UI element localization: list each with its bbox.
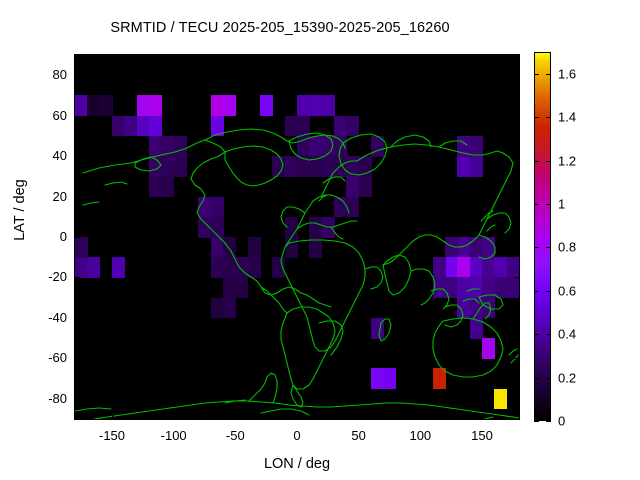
heatmap-cell (507, 277, 519, 298)
y-tick-mark (75, 75, 80, 76)
heatmap-cell (322, 136, 335, 157)
heatmap-cell (198, 197, 211, 218)
colorbar-tick-label: 0.2 (558, 370, 576, 385)
heatmap-cell (149, 116, 162, 137)
x-tick-label: 100 (390, 428, 450, 443)
colorbar-tick-label: 0.8 (558, 240, 576, 255)
heatmap-cell (457, 298, 470, 319)
colorbar-tick-mark (534, 334, 539, 335)
heatmap-cell (248, 237, 261, 258)
heatmap-cell (494, 389, 507, 410)
y-tick-mark (514, 75, 519, 76)
heatmap-cell (285, 116, 298, 137)
x-tick-mark (482, 55, 483, 60)
heatmap-cell (309, 156, 322, 177)
heatmap-cell (334, 136, 347, 157)
y-tick-mark (75, 197, 80, 198)
heatmap-cell (482, 237, 495, 258)
colorbar-tick-mark (546, 334, 551, 335)
heatmap-cell (482, 277, 495, 298)
heatmap-cell (494, 277, 507, 298)
heatmap-cell (457, 156, 470, 177)
heatmap-cell (334, 197, 347, 218)
x-tick-mark (359, 414, 360, 419)
heatmap-cell (198, 217, 211, 238)
heatmap-cell (149, 156, 162, 177)
heatmap-cell (470, 298, 483, 319)
colorbar-tick-label: 1 (558, 196, 565, 211)
y-tick-mark (514, 197, 519, 198)
y-tick-mark (75, 237, 80, 238)
colorbar-tick-mark (534, 247, 539, 248)
heatmap-cell (272, 257, 285, 278)
heatmap-cell (433, 277, 446, 298)
x-tick-mark (174, 55, 175, 60)
heatmap-cell (149, 176, 162, 197)
heatmap-cell (211, 197, 224, 218)
y-tick-mark (75, 156, 80, 157)
colorbar-tick-mark (546, 117, 551, 118)
heatmap-cell (334, 156, 347, 177)
heatmap-cell (470, 136, 483, 157)
y-tick-mark (514, 116, 519, 117)
colorbar-tick-mark (546, 247, 551, 248)
y-tick-mark (514, 237, 519, 238)
colorbar-tick-mark (546, 291, 551, 292)
heatmap-cell (223, 277, 236, 298)
heatmap-cell (211, 237, 224, 258)
y-axis-label: LAT / deg (12, 160, 28, 260)
heatmap-cell (470, 257, 483, 278)
x-tick-mark (420, 55, 421, 60)
x-tick-label: 150 (452, 428, 512, 443)
colorbar-tick-mark (546, 378, 551, 379)
colorbar-tick-label: 0.4 (558, 327, 576, 342)
heatmap-cell (457, 237, 470, 258)
heatmap-cell (223, 237, 236, 258)
heatmap-cell (297, 136, 310, 157)
heatmap-cell (149, 95, 162, 116)
x-tick-label: -50 (205, 428, 265, 443)
heatmap-cell (223, 298, 236, 319)
x-tick-mark (420, 414, 421, 419)
heatmap-cell (433, 368, 446, 389)
heatmap-cell (346, 197, 359, 218)
x-tick-mark (297, 414, 298, 419)
heatmap-cell (285, 217, 298, 238)
y-tick-label: 60 (21, 108, 67, 123)
heatmap-cell (223, 95, 236, 116)
y-tick-mark (514, 318, 519, 319)
y-tick-label: 80 (21, 67, 67, 82)
colorbar-tick-label: 1.6 (558, 66, 576, 81)
heatmap-cell (161, 156, 174, 177)
heatmap-cell (297, 156, 310, 177)
heatmap-cell (75, 95, 88, 116)
heatmap-cell (346, 156, 359, 177)
heatmap-cell (260, 95, 273, 116)
heatmap-cell (161, 176, 174, 197)
heatmap-cell (211, 95, 224, 116)
x-tick-mark (359, 55, 360, 60)
heatmap-cell (482, 257, 495, 278)
heatmap-cell (359, 176, 372, 197)
heatmap-cell (309, 136, 322, 157)
heatmap-cell (211, 257, 224, 278)
x-tick-label: -150 (82, 428, 142, 443)
colorbar-tick-mark (534, 291, 539, 292)
heatmap-cell (272, 156, 285, 177)
y-tick-mark (514, 156, 519, 157)
colorbar-tick-mark (546, 204, 551, 205)
heatmap-cell (112, 257, 125, 278)
y-tick-mark (75, 277, 80, 278)
heatmap-cell (211, 116, 224, 137)
colorbar-tick-mark (546, 74, 551, 75)
x-tick-mark (235, 55, 236, 60)
map-plot-area[interactable] (75, 55, 519, 419)
heatmap-cell (297, 95, 310, 116)
heatmap-cell (124, 116, 137, 137)
heatmap-cell (322, 156, 335, 177)
colorbar-tick-mark (534, 161, 539, 162)
heatmap-cell (297, 116, 310, 137)
heatmap-cell (211, 298, 224, 319)
heatmap-cell (235, 277, 248, 298)
heatmap-cell (383, 368, 396, 389)
y-tick-mark (75, 318, 80, 319)
heatmap-cell (137, 116, 150, 137)
heatmap-cell (75, 237, 88, 258)
heatmap-cell (309, 237, 322, 258)
x-tick-mark (112, 55, 113, 60)
heatmap-cell (149, 136, 162, 157)
colorbar-tick-mark (534, 117, 539, 118)
heatmap-cell (87, 257, 100, 278)
heatmap-cell (470, 318, 483, 339)
x-tick-label: 50 (329, 428, 389, 443)
colorbar-tick-label: 0.6 (558, 283, 576, 298)
y-tick-mark (75, 399, 80, 400)
heatmap-cell (285, 156, 298, 177)
heatmap-cell (371, 318, 384, 339)
colorbar-tick-mark (534, 204, 539, 205)
heatmap-cell (112, 116, 125, 137)
colorbar-tick-mark (546, 161, 551, 162)
heatmap-cell (334, 116, 347, 137)
heatmap-cell (346, 176, 359, 197)
y-tick-mark (514, 399, 519, 400)
x-axis-label: LON / deg (75, 456, 519, 472)
x-tick-mark (174, 414, 175, 419)
heatmap-cell (359, 156, 372, 177)
colorbar-tick-mark (534, 74, 539, 75)
y-tick-mark (75, 116, 80, 117)
heatmap-cell (346, 116, 359, 137)
heatmap-cell (100, 95, 113, 116)
colorbar-tick-label: 0 (558, 414, 565, 429)
y-tick-mark (514, 358, 519, 359)
page-title: SRMTID / TECU 2025-205_15390-2025-205_16… (0, 20, 560, 36)
heatmap-cell (470, 237, 483, 258)
heatmap-cell (87, 95, 100, 116)
heatmap-cell (470, 277, 483, 298)
colorbar-gradient (534, 52, 551, 421)
colorbar-tick-label: 1.4 (558, 110, 576, 125)
x-tick-mark (297, 55, 298, 60)
heatmap-cell (445, 237, 458, 258)
heatmap-cell (470, 156, 483, 177)
x-tick-mark (235, 414, 236, 419)
y-tick-label: -20 (21, 269, 67, 284)
heatmap-cell-layer (75, 55, 519, 419)
heatmap-cell (457, 136, 470, 157)
heatmap-cell (322, 217, 335, 238)
heatmap-cell (137, 95, 150, 116)
x-tick-label: -100 (144, 428, 204, 443)
heatmap-cell (309, 95, 322, 116)
x-tick-mark (112, 414, 113, 419)
heatmap-cell (223, 257, 236, 278)
heatmap-cell (309, 217, 322, 238)
colorbar-tick-mark (534, 421, 539, 422)
x-tick-label: 0 (267, 428, 327, 443)
y-tick-mark (514, 277, 519, 278)
y-tick-label: -80 (21, 391, 67, 406)
heatmap-cell (322, 95, 335, 116)
heatmap-cell (174, 156, 187, 177)
heatmap-cell (494, 257, 507, 278)
y-tick-label: -60 (21, 350, 67, 365)
colorbar-tick-label: 1.2 (558, 153, 576, 168)
heatmap-cell (457, 277, 470, 298)
colorbar-tick-mark (534, 378, 539, 379)
heatmap-cell (507, 257, 519, 278)
heatmap-cell (174, 136, 187, 157)
heatmap-cell (482, 338, 495, 359)
heatmap-cell (445, 257, 458, 278)
colorbar[interactable]: 00.20.40.60.811.21.41.6 (534, 52, 551, 421)
heatmap-cell (445, 277, 458, 298)
heatmap-cell (235, 257, 248, 278)
y-tick-mark (75, 358, 80, 359)
heatmap-cell (161, 136, 174, 157)
heatmap-cell (75, 257, 88, 278)
y-tick-label: -40 (21, 310, 67, 325)
heatmap-cell (248, 257, 261, 278)
heatmap-cell (211, 217, 224, 238)
heatmap-cell (371, 136, 384, 157)
heatmap-cell (433, 257, 446, 278)
colorbar-tick-mark (546, 421, 551, 422)
heatmap-cell (371, 368, 384, 389)
heatmap-cell (285, 237, 298, 258)
heatmap-cell (482, 298, 495, 319)
x-tick-mark (482, 414, 483, 419)
heatmap-cell (457, 257, 470, 278)
